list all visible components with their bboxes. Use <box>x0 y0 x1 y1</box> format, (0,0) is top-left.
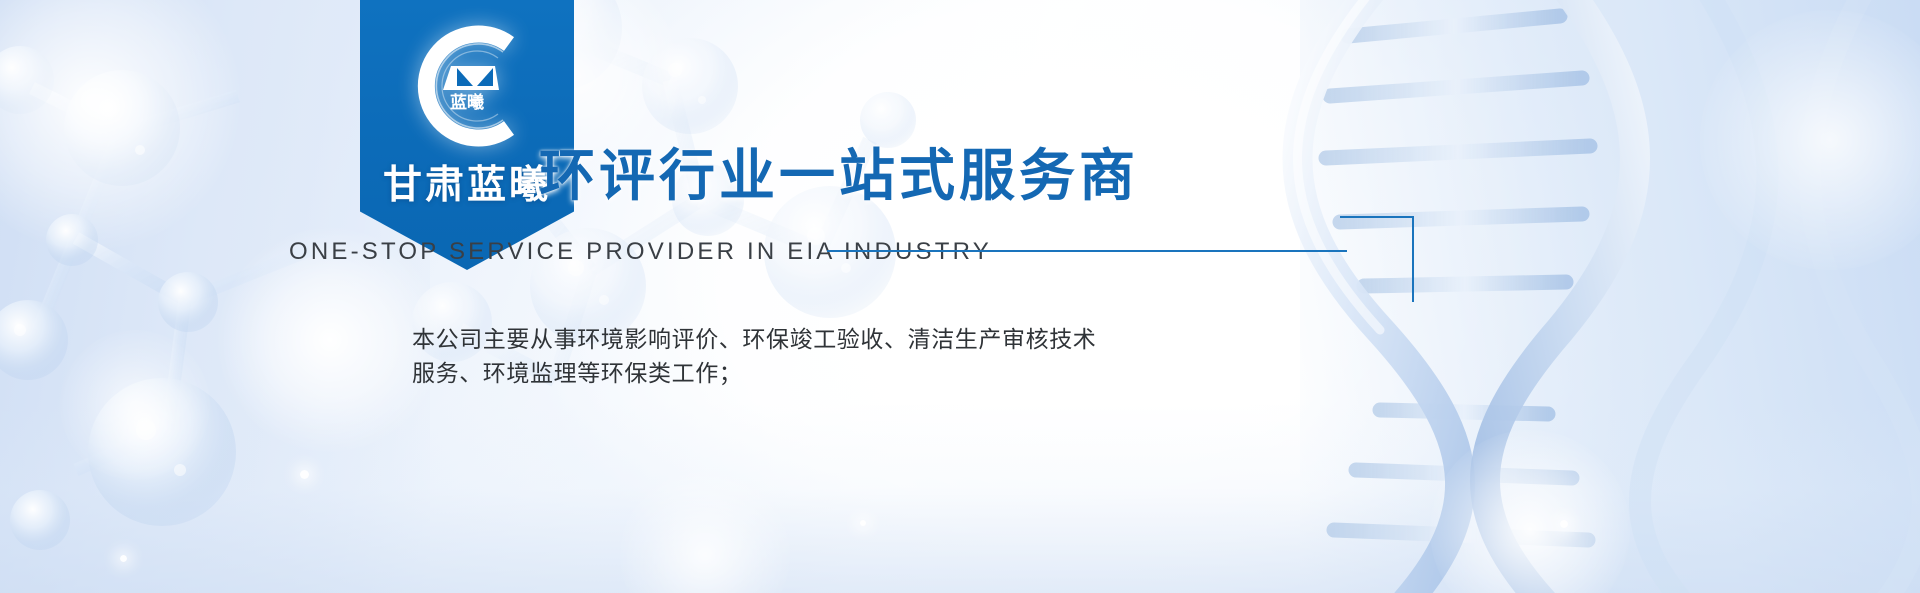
intro-paragraph-line: 服务、环境监理等环保类工作； <box>412 356 1212 390</box>
corner-bracket-side <box>1412 216 1414 302</box>
horizontal-rule <box>827 250 1347 252</box>
intro-paragraph-line: 本公司主要从事环境影响评价、环保竣工验收、清洁生产审核技术 <box>412 322 1212 356</box>
corner-bracket-top <box>1340 216 1414 218</box>
sparkle-dot <box>1560 520 1568 528</box>
page-subtitle: ONE-STOP SERVICE PROVIDER IN EIA INDUSTR… <box>289 238 992 266</box>
logo-inner-text: 蓝曦 <box>450 92 484 112</box>
company-logo-arc-mark[interactable]: 蓝曦 <box>399 18 535 154</box>
sparkle-dot <box>1240 120 1247 127</box>
sparkle-dot <box>300 470 309 479</box>
page-title: 环评行业一站式服务商 <box>539 147 1139 206</box>
company-name: 甘肃蓝曦 <box>383 166 551 205</box>
sparkle-dot <box>120 555 127 562</box>
sparkle-dot <box>860 520 866 526</box>
intro-paragraph: 本公司主要从事环境影响评价、环保竣工验收、清洁生产审核技术 服务、环境监理等环保… <box>412 322 1212 390</box>
background-vignette <box>0 403 1920 593</box>
hero-banner: 蓝曦 甘肃蓝曦 环评行业一站式服务商 ONE-STOP SERVICE PROV… <box>0 0 1920 593</box>
